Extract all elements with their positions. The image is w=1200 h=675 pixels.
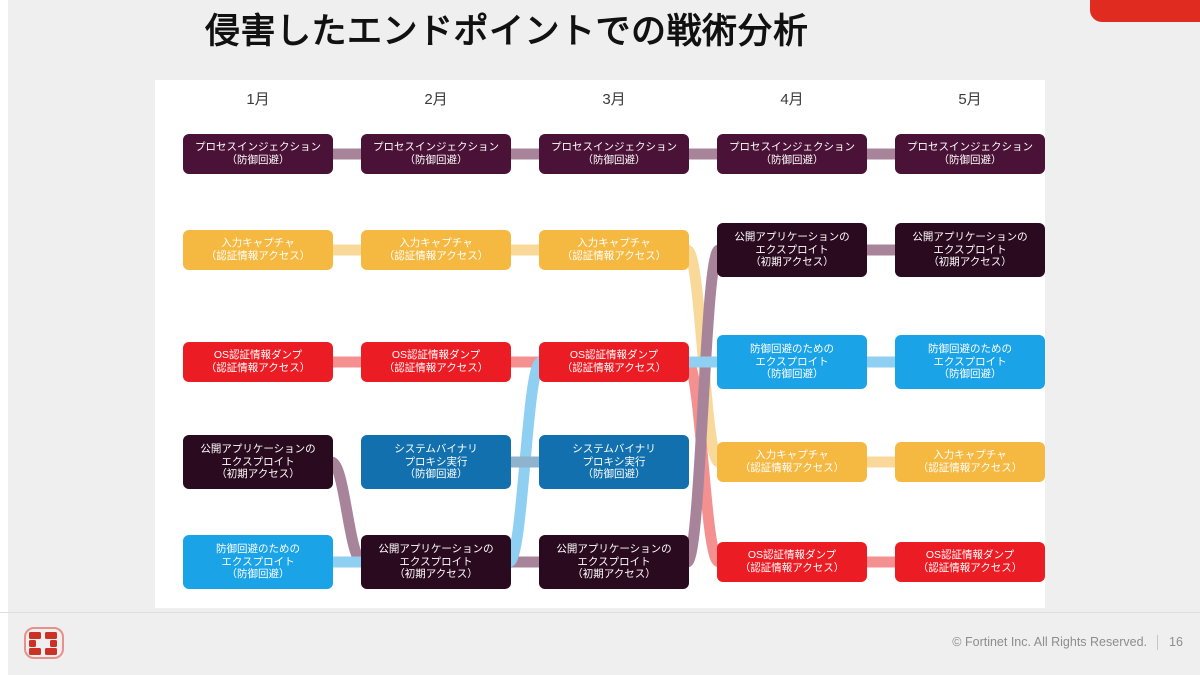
flow-node[interactable]: 入力キャプチャ（認証情報アクセス） bbox=[539, 230, 689, 270]
node-tactic-label: （防御回避） bbox=[761, 368, 824, 381]
node-label-line1: 入力キャプチャ bbox=[755, 449, 828, 462]
node-tactic-label: （認証情報アクセス） bbox=[918, 562, 1022, 575]
node-label-line1: システムバイナリ bbox=[394, 443, 477, 456]
node-tactic-label: （認証情報アクセス） bbox=[384, 250, 488, 263]
node-label-line1: OS認証情報ダンプ bbox=[570, 349, 658, 362]
node-label-line1: 公開アプリケーションの bbox=[912, 231, 1027, 244]
node-label-line1: 防御回避のための bbox=[928, 343, 1012, 356]
flow-node[interactable]: OS認証情報ダンプ（認証情報アクセス） bbox=[895, 542, 1045, 582]
node-label-line1: 防御回避のための bbox=[216, 543, 300, 556]
flow-node[interactable]: プロセスインジェクション（防御回避） bbox=[717, 134, 867, 174]
diagram-card: 1月2月3月4月5月 プロセスインジェクション（防御回避）プロセスインジェクショ… bbox=[155, 80, 1045, 608]
flow-node[interactable]: 防御回避のためのエクスプロイト（防御回避） bbox=[183, 535, 333, 589]
node-label-line1: プロセスインジェクション bbox=[373, 141, 499, 154]
node-label-line1: OS認証情報ダンプ bbox=[392, 349, 480, 362]
node-label-line1: 公開アプリケーションの bbox=[200, 443, 315, 456]
flow-node[interactable]: 入力キャプチャ（認証情報アクセス） bbox=[183, 230, 333, 270]
flow-node[interactable]: 防御回避のためのエクスプロイト（防御回避） bbox=[895, 335, 1045, 389]
flow-node[interactable]: プロセスインジェクション（防御回避） bbox=[361, 134, 511, 174]
node-tactic-label: （初期アクセス） bbox=[216, 468, 299, 481]
footer-separator bbox=[1157, 635, 1158, 650]
node-tactic-label: （認証情報アクセス） bbox=[740, 462, 844, 475]
node-label-line2: エクスプロイト bbox=[399, 556, 472, 569]
node-tactic-label: （防御回避） bbox=[939, 154, 1002, 167]
node-label-line2: プロキシ実行 bbox=[405, 456, 468, 469]
footer-divider bbox=[0, 612, 1200, 613]
node-label-line2: エクスプロイト bbox=[221, 556, 294, 569]
node-tactic-label: （認証情報アクセス） bbox=[562, 362, 666, 375]
node-tactic-label: （初期アクセス） bbox=[750, 256, 833, 269]
node-tactic-label: （認証情報アクセス） bbox=[384, 362, 488, 375]
flow-node[interactable]: 入力キャプチャ（認証情報アクセス） bbox=[361, 230, 511, 270]
node-label-line1: 入力キャプチャ bbox=[221, 237, 294, 250]
node-label-line1: プロセスインジェクション bbox=[907, 141, 1033, 154]
flow-node[interactable]: 公開アプリケーションのエクスプロイト（初期アクセス） bbox=[895, 223, 1045, 277]
flow-node[interactable]: システムバイナリプロキシ実行（防御回避） bbox=[361, 435, 511, 489]
node-label-line1: 公開アプリケーションの bbox=[378, 543, 493, 556]
node-tactic-label: （認証情報アクセス） bbox=[206, 250, 310, 263]
node-label-line1: OS認証情報ダンプ bbox=[748, 549, 836, 562]
flow-link bbox=[331, 462, 363, 562]
flow-node[interactable]: 公開アプリケーションのエクスプロイト（初期アクセス） bbox=[717, 223, 867, 277]
node-label-line1: 公開アプリケーションの bbox=[556, 543, 671, 556]
node-tactic-label: （防御回避） bbox=[405, 468, 468, 481]
flow-node[interactable]: 入力キャプチャ（認証情報アクセス） bbox=[895, 442, 1045, 482]
page-title: 侵害したエンドポイントでの戦術分析 bbox=[205, 6, 1105, 58]
node-label-line1: システムバイナリ bbox=[572, 443, 655, 456]
flow-node[interactable]: 公開アプリケーションのエクスプロイト（初期アクセス） bbox=[539, 535, 689, 589]
flow-node[interactable]: 入力キャプチャ（認証情報アクセス） bbox=[717, 442, 867, 482]
node-label-line1: 入力キャプチャ bbox=[577, 237, 650, 250]
node-label-line1: OS認証情報ダンプ bbox=[926, 549, 1014, 562]
flow-node[interactable]: OS認証情報ダンプ（認証情報アクセス） bbox=[361, 342, 511, 382]
left-white-rail bbox=[0, 0, 8, 675]
node-label-line1: 入力キャプチャ bbox=[933, 449, 1006, 462]
copyright-text: © Fortinet Inc. All Rights Reserved. bbox=[952, 635, 1147, 649]
node-label-line1: プロセスインジェクション bbox=[551, 141, 677, 154]
flow-node[interactable]: プロセスインジェクション（防御回避） bbox=[183, 134, 333, 174]
node-label-line2: エクスプロイト bbox=[221, 456, 294, 469]
flow-node[interactable]: 公開アプリケーションのエクスプロイト（初期アクセス） bbox=[183, 435, 333, 489]
node-tactic-label: （防御回避） bbox=[761, 154, 824, 167]
node-tactic-label: （認証情報アクセス） bbox=[562, 250, 666, 263]
flow-node[interactable]: 公開アプリケーションのエクスプロイト（初期アクセス） bbox=[361, 535, 511, 589]
node-label-line1: 公開アプリケーションの bbox=[734, 231, 849, 244]
slide-root: 侵害したエンドポイントでの戦術分析 1月2月3月4月5月 プロセスインジェクショ… bbox=[0, 0, 1200, 675]
flow-node[interactable]: プロセスインジェクション（防御回避） bbox=[539, 134, 689, 174]
node-label-line1: 防御回避のための bbox=[750, 343, 834, 356]
node-tactic-label: （防御回避） bbox=[227, 568, 290, 581]
node-label-line1: OS認証情報ダンプ bbox=[214, 349, 302, 362]
node-label-line2: エクスプロイト bbox=[755, 356, 828, 369]
node-tactic-label: （防御回避） bbox=[583, 154, 646, 167]
flow-node[interactable]: OS認証情報ダンプ（認証情報アクセス） bbox=[539, 342, 689, 382]
node-tactic-label: （初期アクセス） bbox=[572, 568, 655, 581]
node-tactic-label: （初期アクセス） bbox=[394, 568, 477, 581]
node-tactic-label: （認証情報アクセス） bbox=[918, 462, 1022, 475]
page-number: 16 bbox=[1168, 635, 1184, 649]
flow-node[interactable]: OS認証情報ダンプ（認証情報アクセス） bbox=[183, 342, 333, 382]
node-label-line1: プロセスインジェクション bbox=[195, 141, 321, 154]
node-tactic-label: （防御回避） bbox=[405, 154, 468, 167]
node-label-line1: プロセスインジェクション bbox=[729, 141, 855, 154]
node-tactic-label: （防御回避） bbox=[583, 468, 646, 481]
node-label-line2: エクスプロイト bbox=[755, 244, 828, 257]
node-tactic-label: （防御回避） bbox=[227, 154, 290, 167]
node-tactic-label: （認証情報アクセス） bbox=[206, 362, 310, 375]
flow-node[interactable]: プロセスインジェクション（防御回避） bbox=[895, 134, 1045, 174]
flow-node[interactable]: OS認証情報ダンプ（認証情報アクセス） bbox=[717, 542, 867, 582]
node-label-line2: プロキシ実行 bbox=[583, 456, 646, 469]
node-tactic-label: （認証情報アクセス） bbox=[740, 562, 844, 575]
node-label-line2: エクスプロイト bbox=[933, 244, 1006, 257]
flow-node[interactable]: 防御回避のためのエクスプロイト（防御回避） bbox=[717, 335, 867, 389]
node-label-line1: 入力キャプチャ bbox=[399, 237, 472, 250]
node-tactic-label: （防御回避） bbox=[939, 368, 1002, 381]
node-label-line2: エクスプロイト bbox=[933, 356, 1006, 369]
fortinet-logo-icon bbox=[24, 626, 64, 660]
top-right-accent-bar bbox=[1090, 0, 1200, 22]
flow-node[interactable]: システムバイナリプロキシ実行（防御回避） bbox=[539, 435, 689, 489]
node-tactic-label: （初期アクセス） bbox=[928, 256, 1011, 269]
node-label-line2: エクスプロイト bbox=[577, 556, 650, 569]
footer-meta: © Fortinet Inc. All Rights Reserved. 16 bbox=[952, 632, 1184, 652]
